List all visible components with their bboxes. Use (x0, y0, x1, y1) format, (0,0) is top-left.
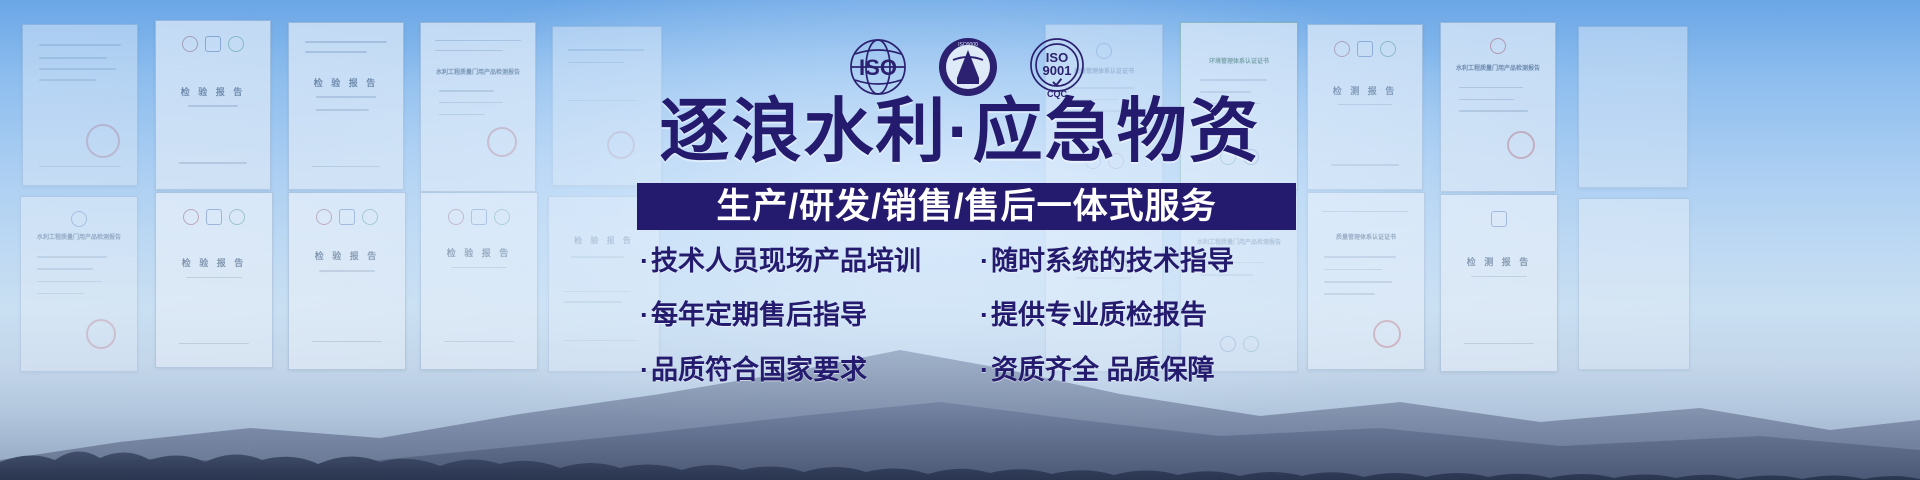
subtitle-bar: 生产/研发/销售/售后一体式服务 (637, 183, 1296, 230)
list-item: ·随时系统的技术指导 (980, 243, 1300, 279)
list-item: ·提供专业质检报告 (980, 297, 1300, 333)
subtitle-text: 生产/研发/销售/售后一体式服务 (716, 189, 1216, 224)
list-item-label: 品质符合国家要求 (651, 355, 867, 385)
bullet-marker: · (980, 246, 989, 276)
promo-banner: 检 验 报 告 检 验 报 告 水利工程质量门用产品检测报告 (0, 0, 1920, 480)
svg-text:ISO9000: ISO9000 (958, 42, 978, 48)
banner-content: ISO ISO9000 (0, 0, 1920, 480)
bullet-marker: · (640, 355, 649, 385)
iso-globe-badge: ISO (845, 34, 911, 100)
list-item-label: 提供专业质检报告 (991, 300, 1207, 330)
list-item-label: 随时系统的技术指导 (991, 246, 1234, 276)
iso-9001-cqc-badge: ISO 9001 CQC (1024, 34, 1090, 100)
iso-9000-round-badge: ISO9000 (935, 34, 1001, 100)
svg-text:9001: 9001 (1043, 63, 1072, 78)
list-item: ·每年定期售后指导 (640, 297, 980, 333)
page-title: 逐浪水利·应急物资 (659, 96, 1260, 166)
bullet-marker: · (980, 355, 989, 385)
list-item-label: 技术人员现场产品培训 (651, 246, 921, 276)
bullet-marker: · (980, 300, 989, 330)
list-item: ·技术人员现场产品培训 (640, 243, 980, 279)
list-item-label: 资质齐全 品质保障 (991, 355, 1215, 385)
bullet-marker: · (640, 246, 649, 276)
bullet-marker: · (640, 300, 649, 330)
list-item: ·资质齐全 品质保障 (980, 352, 1300, 388)
certification-badges: ISO ISO9000 (845, 33, 1090, 101)
list-item: ·品质符合国家要求 (640, 352, 980, 388)
feature-bullet-list: ·技术人员现场产品培训 ·随时系统的技术指导 ·每年定期售后指导 ·提供专业质检… (640, 243, 1300, 388)
svg-text:ISO: ISO (859, 55, 897, 80)
list-item-label: 每年定期售后指导 (651, 300, 867, 330)
